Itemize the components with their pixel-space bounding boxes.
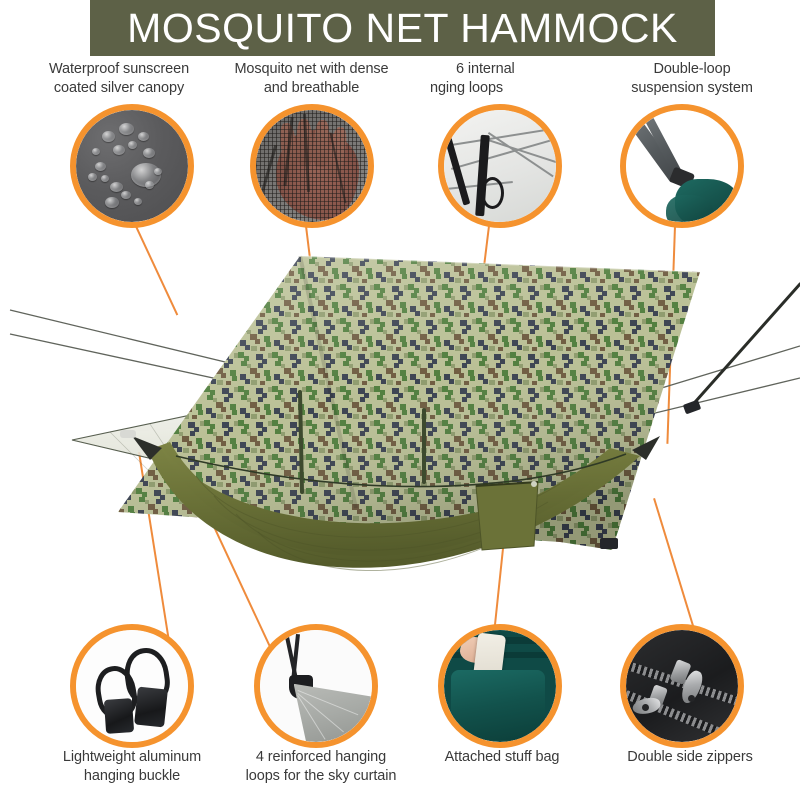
callout-circle-double-zippers[interactable] <box>620 624 744 748</box>
suspension-strap-photo <box>626 110 738 222</box>
attached-stuff-bag <box>476 481 538 550</box>
label-double-zippers: Double side zippers <box>600 748 780 767</box>
callout-circle-mosquito-net[interactable] <box>250 104 374 228</box>
callout-circle-sky-curtain-loops[interactable] <box>254 624 378 748</box>
hammock-svg <box>0 250 800 610</box>
label-stuff-bag: Attached stuff bag <box>414 748 590 767</box>
interior-hanging-loop-photo <box>444 110 556 222</box>
label-sky-curtain-loops: 4 reinforced hanging loops for the sky c… <box>222 748 420 786</box>
infographic-canvas: MOSQUITO NET HAMMOCK <box>0 0 800 800</box>
label-double-loop-suspension: Double-loop suspension system <box>597 60 787 98</box>
label-aluminum-buckle: Lightweight aluminum hanging buckle <box>34 748 230 786</box>
callout-circle-internal-loops[interactable] <box>438 104 562 228</box>
water-beading-fabric-photo <box>76 110 188 222</box>
page-title: MOSQUITO NET HAMMOCK <box>127 8 678 49</box>
title-banner: MOSQUITO NET HAMMOCK <box>90 0 715 56</box>
reinforced-loop-photo <box>260 630 372 742</box>
callout-circle-stuff-bag[interactable] <box>438 624 562 748</box>
stuff-bag-with-phone-photo <box>444 630 556 742</box>
product-illustration <box>0 250 800 610</box>
carabiner-pair-photo <box>76 630 188 742</box>
callout-circle-aluminum-buckle[interactable] <box>70 624 194 748</box>
label-mosquito-net: Mosquito net with dense and breathable <box>219 60 404 98</box>
hand-behind-mesh-photo <box>256 110 368 222</box>
label-waterproof-canopy: Waterproof sunscreen coated silver canop… <box>24 60 214 98</box>
callout-circle-waterproof-canopy[interactable] <box>70 104 194 228</box>
callout-circle-double-loop-suspension[interactable] <box>620 104 744 228</box>
double-zipper-pull-photo <box>626 630 738 742</box>
label-internal-loops: 6 internal nging loops <box>430 60 580 98</box>
